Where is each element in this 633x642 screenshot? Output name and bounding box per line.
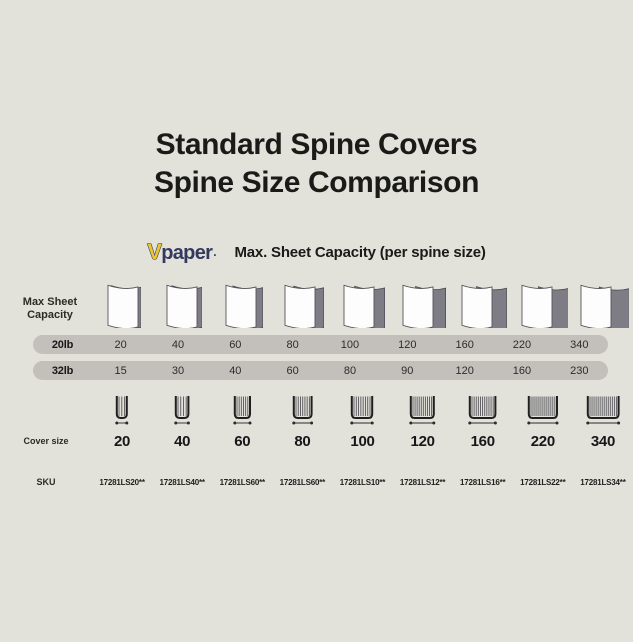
sku-cell: 17281LS34** <box>573 478 633 487</box>
paper-stack-icon <box>340 282 385 328</box>
spine-channel-icon <box>466 394 499 428</box>
cover-size-cell: 120 <box>393 433 453 450</box>
sku-row: SKU 17281LS20**17281LS40**17281LS60**172… <box>0 474 633 490</box>
book-icon-cells <box>92 276 633 328</box>
cover-size-row: Cover size 20406080100120160220340 <box>0 430 633 452</box>
vpaper-logo: Vpaper· <box>147 241 216 263</box>
cover-size-cell: 220 <box>513 433 573 450</box>
spine-icon-cell <box>152 390 212 428</box>
cover-size-cell: 100 <box>332 433 392 450</box>
cover-size-label: Cover size <box>0 435 92 447</box>
spine-channel-icon <box>407 394 438 428</box>
spine-icon-cells <box>92 390 633 428</box>
spine-channel-icon <box>290 394 315 428</box>
paper-stack-icon <box>399 282 446 328</box>
spine-channel-icon <box>348 394 376 428</box>
capacity-cell-32lb: 80 <box>321 365 378 377</box>
cover-size-cell: 160 <box>453 433 513 450</box>
spine-channel-icon <box>231 394 254 428</box>
capacity-values-32lb: 153040608090120160230 <box>92 365 608 377</box>
cover-size-values: 20406080100120160220340 <box>92 433 633 450</box>
sku-cell: 17281LS22** <box>513 478 573 487</box>
brand-and-subhead: Vpaper· Max. Sheet Capacity (per spine s… <box>0 241 633 263</box>
book-icon-cell <box>92 276 152 328</box>
cover-size-cell: 60 <box>212 433 272 450</box>
logo-v-icon: V <box>147 241 161 263</box>
book-row-spacer <box>0 296 92 308</box>
sku-cell: 17281LS16** <box>453 478 513 487</box>
spine-icon-cell <box>272 390 332 428</box>
sku-cell: 17281LS40** <box>152 478 212 487</box>
book-icon-cell <box>573 276 633 328</box>
spine-icon-cell <box>212 390 272 428</box>
sku-values: 17281LS20**17281LS40**17281LS60**17281LS… <box>92 478 633 487</box>
paper-stack-icon <box>577 282 629 328</box>
spine-icon-cell <box>393 390 453 428</box>
page-title: Standard Spine Covers Spine Size Compari… <box>0 126 633 202</box>
row-label-20lb: 20lb <box>33 339 92 351</box>
spine-channel-icon <box>113 394 131 428</box>
capacity-cell-32lb: 40 <box>207 365 264 377</box>
subhead-text: Max. Sheet Capacity (per spine size) <box>235 244 486 261</box>
title-line-1: Standard Spine Covers <box>0 126 633 164</box>
book-icon-cell <box>393 276 453 328</box>
title-line-2: Spine Size Comparison <box>0 164 633 202</box>
book-icon-cell <box>272 276 332 328</box>
book-icon-cell <box>332 276 392 328</box>
paper-stack-icon <box>518 282 568 328</box>
spine-row-spacer <box>0 403 92 415</box>
capacity-values-20lb: 20406080100120160220340 <box>92 339 608 351</box>
cover-size-cell: 40 <box>152 433 212 450</box>
paper-stack-icon <box>281 282 324 328</box>
cover-size-cell: 20 <box>92 433 152 450</box>
spine-channel-icon <box>584 394 622 428</box>
capacity-cell-32lb: 230 <box>551 365 608 377</box>
capacity-cell-20lb: 220 <box>493 339 550 351</box>
capacity-cell-20lb: 340 <box>551 339 608 351</box>
paper-stack-icon <box>104 282 141 328</box>
spine-channel-icon <box>172 394 192 428</box>
sku-cell: 17281LS10** <box>332 478 392 487</box>
cover-size-cell: 340 <box>573 433 633 450</box>
sku-cell: 17281LS20** <box>92 478 152 487</box>
paper-stack-icon <box>163 282 202 328</box>
spine-icon-cell <box>332 390 392 428</box>
logo-registered-mark: · <box>213 249 216 261</box>
cover-size-cell: 80 <box>272 433 332 450</box>
sku-cell: 17281LS60** <box>272 478 332 487</box>
sku-cell: 17281LS12** <box>393 478 453 487</box>
book-icon-cell <box>212 276 272 328</box>
capacity-cell-32lb: 30 <box>149 365 206 377</box>
spine-channel-icon <box>525 394 561 428</box>
capacity-cell-32lb: 15 <box>92 365 149 377</box>
capacity-cell-32lb: 60 <box>264 365 321 377</box>
spine-icon-cell <box>573 390 633 428</box>
capacity-row-32lb: 32lb 153040608090120160230 <box>33 361 608 380</box>
spine-icon-cell <box>513 390 573 428</box>
book-icon-row <box>0 276 633 328</box>
capacity-cell-20lb: 160 <box>436 339 493 351</box>
capacity-row-20lb: 20lb 20406080100120160220340 <box>33 335 608 354</box>
capacity-cell-20lb: 60 <box>207 339 264 351</box>
row-label-32lb: 32lb <box>33 365 92 377</box>
capacity-cell-20lb: 100 <box>321 339 378 351</box>
capacity-cell-32lb: 90 <box>379 365 436 377</box>
logo-wordmark: paper <box>161 243 212 263</box>
capacity-cell-20lb: 80 <box>264 339 321 351</box>
book-icon-cell <box>513 276 573 328</box>
capacity-cell-20lb: 40 <box>149 339 206 351</box>
spine-icon-row <box>0 390 633 428</box>
book-icon-cell <box>453 276 513 328</box>
capacity-cell-32lb: 160 <box>493 365 550 377</box>
capacity-cell-20lb: 20 <box>92 339 149 351</box>
capacity-cell-32lb: 120 <box>436 365 493 377</box>
paper-stack-icon <box>222 282 263 328</box>
spine-icon-cell <box>92 390 152 428</box>
spine-icon-cell <box>453 390 513 428</box>
capacity-cell-20lb: 120 <box>379 339 436 351</box>
sku-label: SKU <box>0 476 92 488</box>
sku-cell: 17281LS60** <box>212 478 272 487</box>
book-icon-cell <box>152 276 212 328</box>
paper-stack-icon <box>458 282 507 328</box>
